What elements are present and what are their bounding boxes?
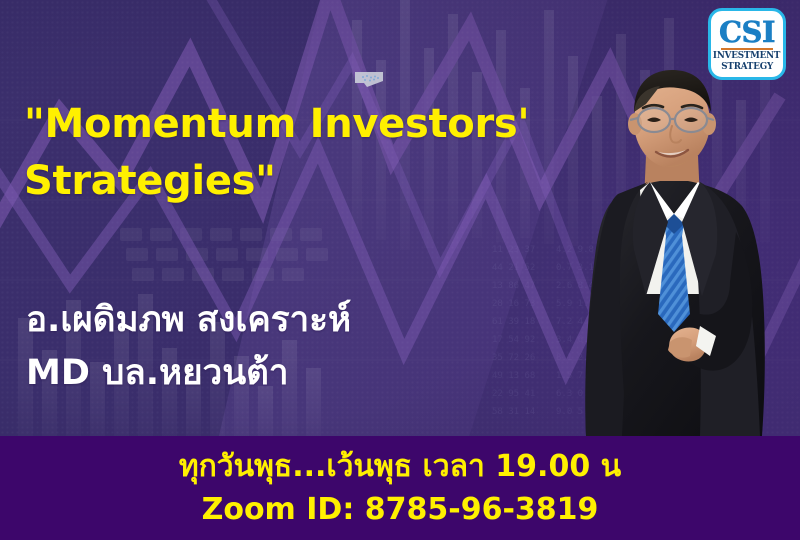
schedule-time: ทุกวันพุธ...เว้นพุธ เวลา 19.00 น (179, 446, 621, 489)
speaker-info: อ.เผดิมภพ สงเคราะห์ MD บล.หยวนต้า (26, 294, 546, 400)
speaker-name: อ.เผดิมภพ สงเคราะห์ (26, 294, 546, 347)
logo-mark-text: CSI (719, 19, 775, 47)
csi-logo: CSI INVESTMENT STRATEGY (708, 8, 786, 80)
logo-card: CSI INVESTMENT STRATEGY (708, 8, 786, 80)
schedule-bar: ทุกวันพุธ...เว้นพุธ เวลา 19.00 น Zoom ID… (0, 436, 800, 540)
speaker-role: MD บล.หยวนต้า (26, 347, 546, 400)
page-title: "Momentum Investors' Strategies" (24, 96, 584, 210)
flag-marker-icon (354, 70, 384, 94)
logo-subtitle-investment: INVESTMENT (713, 51, 780, 61)
webinar-promo-poster: 11 23 374.2 9.8 44 21 520.7 3.1 13 86 47… (0, 0, 800, 540)
logo-subtitle-strategy: STRATEGY (721, 62, 773, 72)
zoom-id: Zoom ID: 8785-96-3819 (202, 489, 599, 532)
speaker-portrait (550, 64, 800, 436)
